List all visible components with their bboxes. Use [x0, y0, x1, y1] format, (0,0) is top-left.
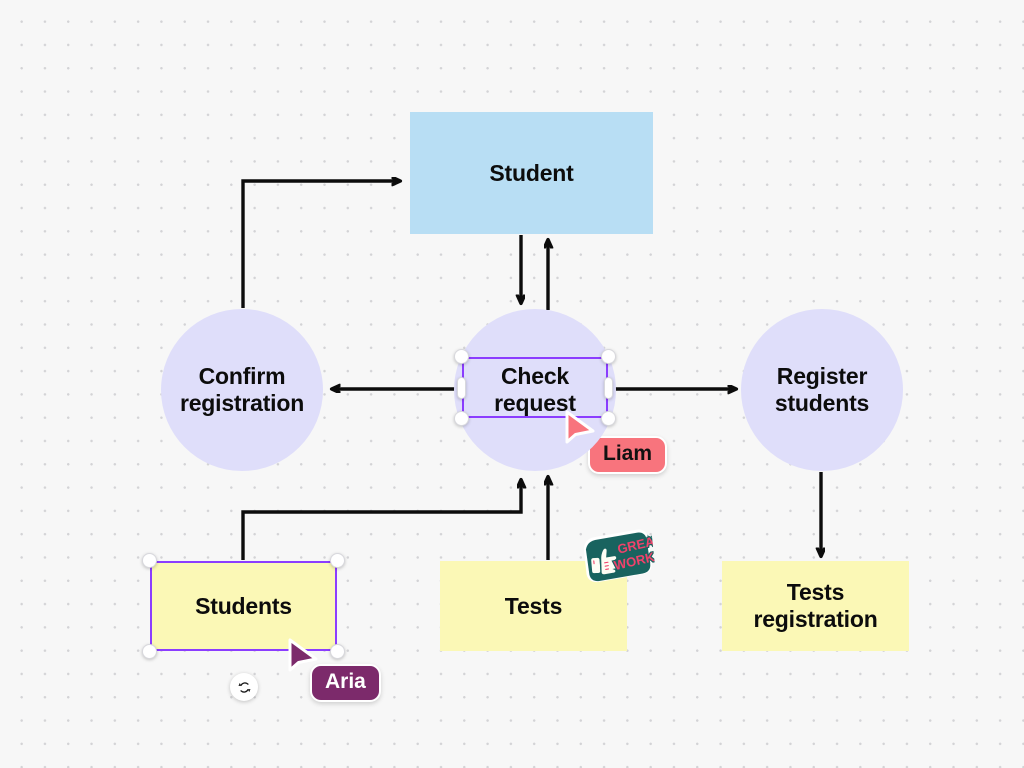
whiteboard-canvas[interactable]: Student Confirm registration Check reque… — [0, 0, 1024, 768]
cursor-liam — [563, 409, 597, 449]
node-check-request-line1: Check — [501, 363, 569, 389]
node-confirm-registration[interactable]: Confirm registration — [161, 309, 323, 471]
node-register-students-label: Register students — [775, 363, 869, 416]
node-register-students-line2: students — [775, 390, 869, 416]
great-work-sticker[interactable]: GREAT WORK — [575, 527, 656, 589]
node-tests-registration-line1: Tests — [787, 579, 844, 605]
node-tests-label: Tests — [505, 593, 562, 620]
cursor-aria — [286, 637, 320, 677]
edge-confirm-to-student[interactable] — [243, 181, 400, 308]
great-work-sticker-graphic: GREAT WORK — [575, 527, 656, 589]
node-register-students-line1: Register — [777, 363, 867, 389]
node-confirm-registration-line2: registration — [180, 390, 304, 416]
node-students-label: Students — [195, 593, 292, 620]
node-student-label: Student — [489, 160, 573, 187]
edge-students-to-check[interactable] — [243, 480, 521, 560]
rotate-handle[interactable] — [230, 673, 258, 701]
node-register-students[interactable]: Register students — [741, 309, 903, 471]
rotate-icon — [237, 680, 252, 695]
cursor-pointer-icon — [286, 637, 320, 677]
node-tests-registration[interactable]: Tests registration — [722, 561, 909, 651]
cursor-pointer-icon — [563, 409, 597, 449]
node-student[interactable]: Student — [410, 112, 653, 234]
node-confirm-registration-line1: Confirm — [199, 363, 286, 389]
node-tests-registration-label: Tests registration — [753, 579, 877, 632]
node-confirm-registration-label: Confirm registration — [180, 363, 304, 416]
node-tests-registration-line2: registration — [753, 606, 877, 632]
